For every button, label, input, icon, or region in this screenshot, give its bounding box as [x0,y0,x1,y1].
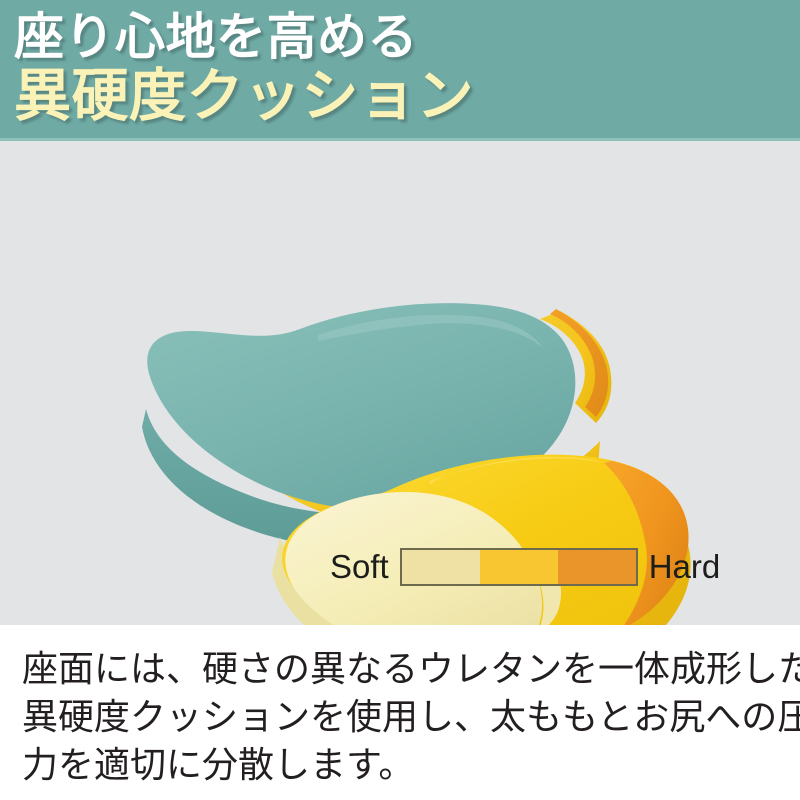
legend-segment-hard [558,550,636,584]
hardness-legend: Soft Hard [330,545,720,589]
description-line-2: 異硬度クッションを使用し、太ももとお尻への圧 [22,693,778,741]
legend-soft-label: Soft [330,549,389,585]
description-line-1: 座面には、硬さの異なるウレタンを一体成形した [22,645,778,693]
header-title-line-2: 異硬度クッション [14,63,474,129]
legend-gradient-bar [400,548,638,586]
legend-segment-soft [402,550,480,584]
description-block: 座面には、硬さの異なるウレタンを一体成形した 異硬度クッションを使用し、太ももと… [0,625,800,800]
description-line-3: 力を適切に分散します。 [22,741,778,789]
product-feature-infographic: 座り心地を高める 異硬度クッション [0,0,800,800]
header-banner: 座り心地を高める 異硬度クッション [0,0,800,141]
legend-segment-medium [480,550,558,584]
legend-hard-label: Hard [649,549,721,585]
cushion-illustration-panel: Soft Hard [0,141,800,625]
header-title-line-1: 座り心地を高める [14,8,418,66]
